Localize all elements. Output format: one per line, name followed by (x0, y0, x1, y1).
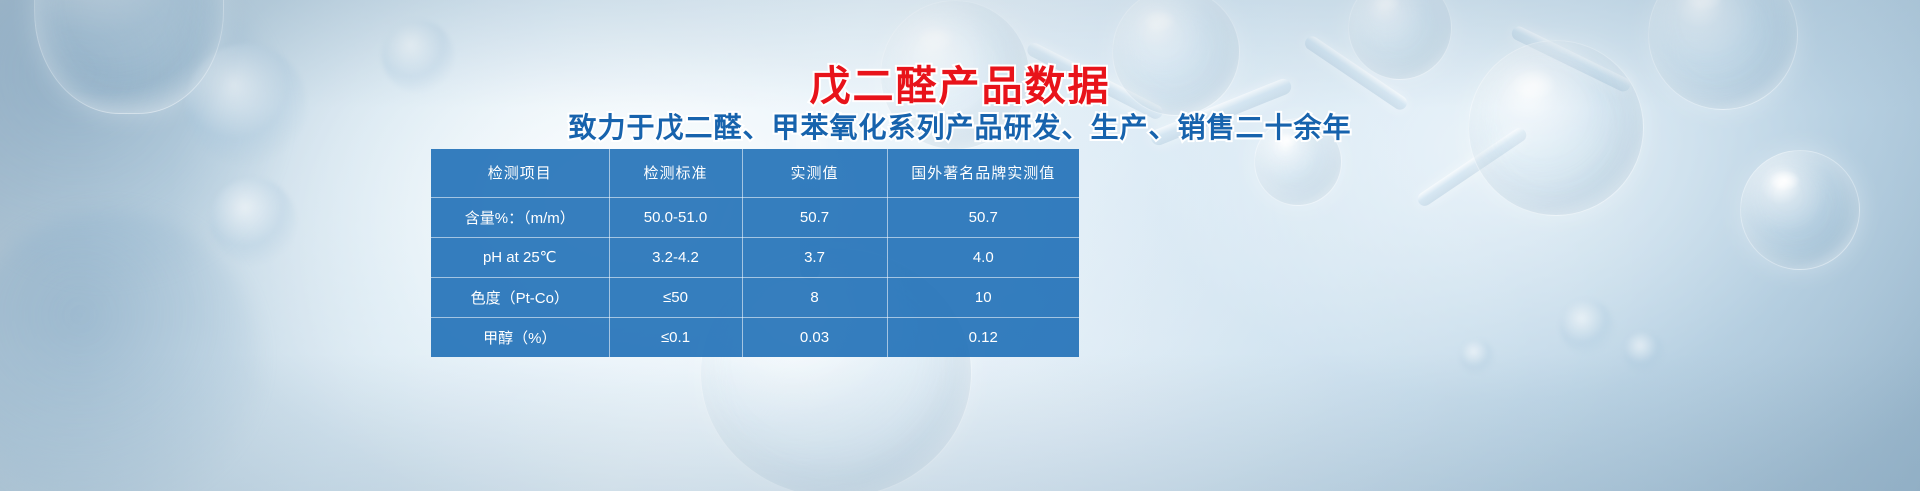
cell-foreign: 50.7 (887, 197, 1079, 237)
cell-item: 含量%：（m/m） (431, 197, 609, 237)
column-header-measured: 实测值 (742, 149, 887, 197)
page-title: 戊二醛产品数据 (0, 52, 1920, 112)
table-row: 含量%：（m/m） 50.0-51.0 50.7 50.7 (431, 197, 1079, 237)
cell-item: 色度（Pt-Co） (431, 277, 609, 317)
spec-table: 检测项目 检测标准 实测值 国外著名品牌实测值 含量%：（m/m） 50.0-5… (431, 149, 1079, 357)
cell-standard: ≤50 (609, 277, 742, 317)
table-row: pH at 25℃ 3.2-4.2 3.7 4.0 (431, 237, 1079, 277)
cell-measured: 0.03 (742, 317, 887, 357)
page-subtitle: 致力于戊二醛、甲苯氧化系列产品研发、生产、销售二十余年 (0, 106, 1920, 146)
column-header-standard: 检测标准 (609, 149, 742, 197)
cell-foreign: 4.0 (887, 237, 1079, 277)
product-data-banner: 戊二醛产品数据 致力于戊二醛、甲苯氧化系列产品研发、生产、销售二十余年 检测项目… (0, 0, 1920, 491)
table-row: 甲醇（%） ≤0.1 0.03 0.12 (431, 317, 1079, 357)
spec-table-container: 检测项目 检测标准 实测值 国外著名品牌实测值 含量%：（m/m） 50.0-5… (431, 149, 1079, 357)
cell-standard: 50.0-51.0 (609, 197, 742, 237)
column-header-item: 检测项目 (431, 149, 609, 197)
cell-measured: 8 (742, 277, 887, 317)
table-row: 色度（Pt-Co） ≤50 8 10 (431, 277, 1079, 317)
cell-item: pH at 25℃ (431, 237, 609, 277)
cell-item: 甲醇（%） (431, 317, 609, 357)
cell-standard: 3.2-4.2 (609, 237, 742, 277)
column-header-foreign-brand: 国外著名品牌实测值 (887, 149, 1079, 197)
cell-foreign: 10 (887, 277, 1079, 317)
cell-standard: ≤0.1 (609, 317, 742, 357)
table-header-row: 检测项目 检测标准 实测值 国外著名品牌实测值 (431, 149, 1079, 197)
cell-foreign: 0.12 (887, 317, 1079, 357)
cell-measured: 50.7 (742, 197, 887, 237)
cell-measured: 3.7 (742, 237, 887, 277)
